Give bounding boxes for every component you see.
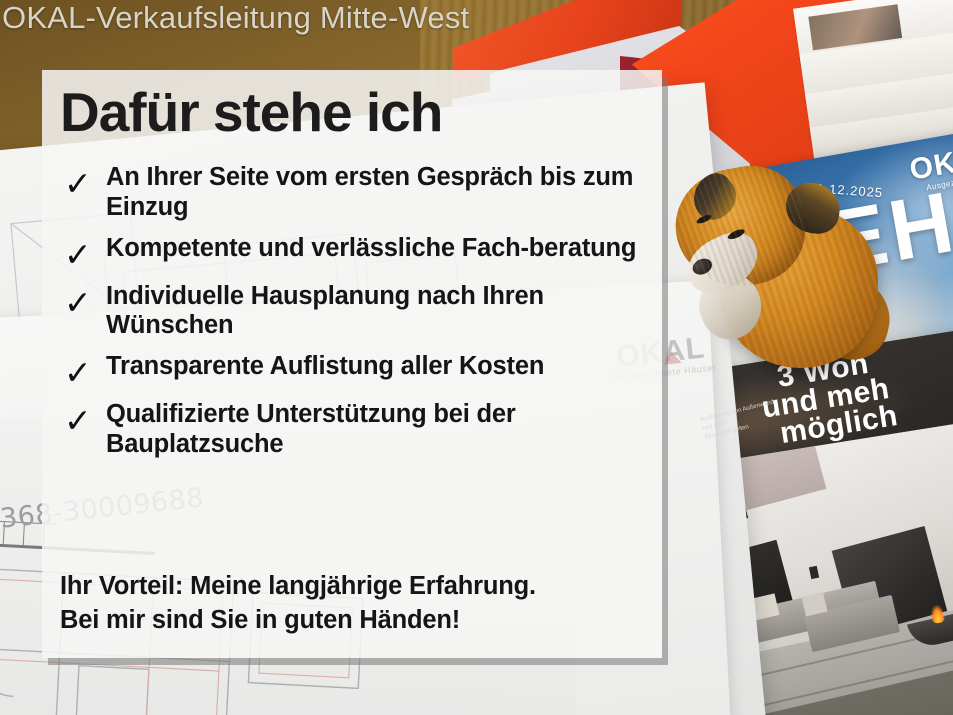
list-item: ✓ Kompetente und verlässliche Fach-berat…	[58, 234, 658, 271]
promise-list: ✓ An Ihrer Seite vom ersten Gespräch bis…	[58, 163, 658, 471]
list-item-label: Individuelle Hausplanung nach Ihren Wüns…	[106, 282, 654, 342]
checkmark-icon: ✓	[58, 163, 106, 200]
list-item-label: Qualifizierte Unterstützung bei der Baup…	[106, 400, 654, 460]
list-item-label: Transparente Auflistung aller Kosten	[106, 352, 544, 382]
checkmark-icon: ✓	[58, 234, 106, 271]
checkmark-icon: ✓	[58, 282, 106, 319]
page-title: OKAL-Verkaufsleitung Mitte-West	[2, 0, 469, 36]
slide-canvas: OKAL Ausgezeichnete 15.03. – 31.12.2025 …	[0, 0, 953, 715]
closing-statement: Ihr Vorteil: Meine langjährige Erfahrung…	[60, 570, 640, 638]
list-item: ✓ An Ihrer Seite vom ersten Gespräch bis…	[58, 163, 658, 223]
checkmark-icon: ✓	[58, 352, 106, 389]
card-heading: Dafür stehe ich	[60, 80, 442, 144]
photo-wall-lamp	[809, 566, 819, 579]
promise-card: Dafür stehe ich ✓ An Ihrer Seite vom ers…	[42, 70, 662, 658]
list-item: ✓ Qualifizierte Unterstützung bei der Ba…	[58, 400, 658, 460]
fox-ear-left	[684, 167, 745, 227]
list-item-label: An Ihrer Seite vom ersten Gespräch bis z…	[106, 163, 654, 223]
checkmark-icon: ✓	[58, 400, 106, 437]
list-item: ✓ Individuelle Hausplanung nach Ihren Wü…	[58, 282, 658, 342]
fox-eye	[727, 227, 746, 241]
list-item-label: Kompetente und verlässliche Fach-beratun…	[106, 234, 636, 264]
list-item: ✓ Transparente Auflistung aller Kosten	[58, 352, 658, 389]
fox-eye	[696, 213, 713, 225]
fox-figurine	[670, 150, 885, 380]
